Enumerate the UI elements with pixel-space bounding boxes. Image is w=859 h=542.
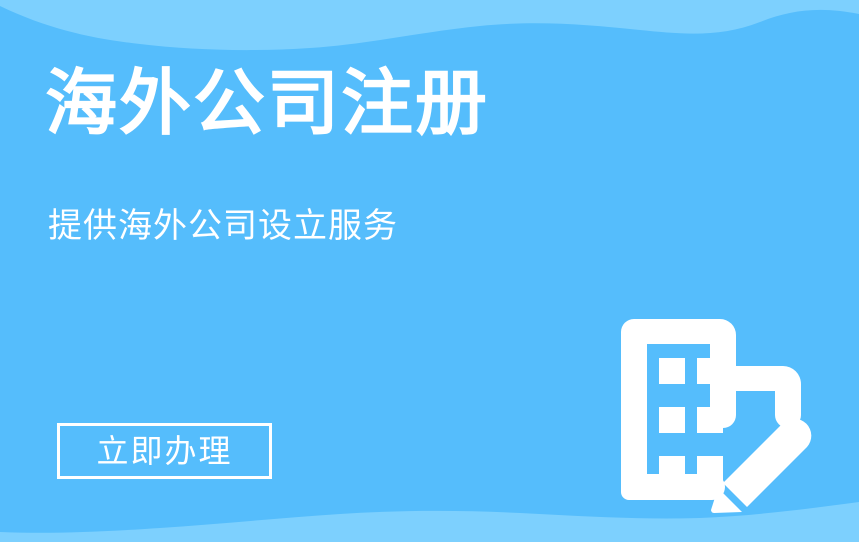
apply-now-button[interactable]: 立即办理	[57, 423, 272, 479]
page-title: 海外公司注册	[45, 66, 489, 144]
page-subtitle: 提供海外公司设立服务	[48, 206, 398, 247]
promo-banner: 海外公司注册 提供海外公司设立服务 立即办理	[0, 0, 859, 542]
building-with-pencil-icon	[608, 303, 820, 515]
top-wave-decoration	[0, 0, 859, 70]
